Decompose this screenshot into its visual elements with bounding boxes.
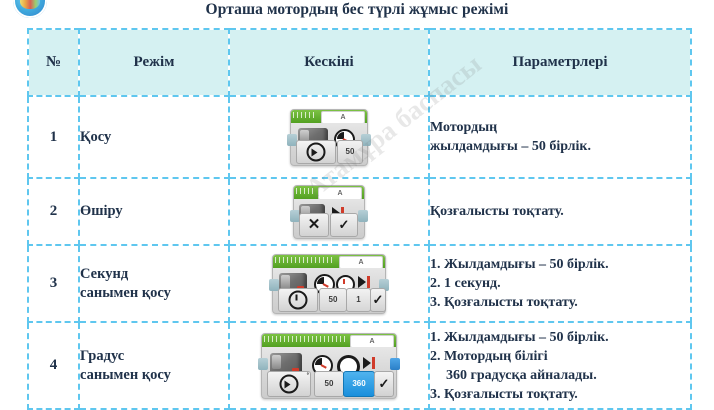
- parameter-line: 2. Мотордың білігі: [430, 347, 690, 366]
- ev3-block-header: A: [262, 334, 396, 347]
- ev3-medium-motor-on-block: A 50: [290, 109, 368, 166]
- row-number: 2: [28, 178, 79, 245]
- ev3-connector-right-icon: [358, 210, 368, 222]
- ev3-ruler-icon: [296, 188, 314, 194]
- ev3-degrees-value[interactable]: 360: [343, 371, 375, 397]
- column-header-image: Кескіні: [229, 29, 429, 96]
- ev3-mode-off-button[interactable]: ✕: [299, 213, 329, 237]
- motor-modes-table: № Режім Кескіні Параметрлері 1 Қосу A: [27, 28, 692, 410]
- ev3-power-value[interactable]: 50: [314, 371, 344, 397]
- parameter-line: 2. 1 секунд.: [430, 274, 690, 293]
- ev3-block-header: A: [273, 255, 385, 268]
- motor-stop-icon: [363, 356, 377, 370]
- on-for-seconds-glyph-icon: [289, 290, 308, 309]
- ev3-ruler-icon: [275, 257, 335, 263]
- ev3-ruler-icon: [264, 336, 346, 342]
- ev3-connector-left-icon: [258, 358, 268, 370]
- ev3-block-body: 50 1 ✓: [273, 268, 385, 313]
- ev3-port-label: A: [339, 256, 383, 268]
- table-row: 4 Градус санымен қосу A: [28, 322, 691, 409]
- stop-bar-shape: [372, 357, 375, 369]
- ev3-medium-motor-on-for-seconds-block: A 50: [272, 254, 386, 314]
- page-title: Орташа мотордың бес түрлі жұмыс режімі: [0, 0, 714, 20]
- ev3-power-value[interactable]: 50: [337, 140, 363, 164]
- row-number: 4: [28, 322, 79, 409]
- row-parameters: Мотордың жылдамдығы – 50 бірлік.: [429, 96, 691, 178]
- row-mode-name: Қосу: [79, 96, 229, 178]
- ev3-seconds-value[interactable]: 1: [346, 288, 371, 312]
- ev3-power-value[interactable]: 50: [319, 288, 347, 312]
- ev3-connector-right-icon: [390, 358, 400, 370]
- motor-stop-icon: [358, 275, 372, 289]
- motor-on-glyph-icon: [307, 142, 326, 161]
- row-parameters: Қозғалысты тоқтату.: [429, 178, 691, 245]
- ev3-medium-motor-on-for-degrees-block: A °: [261, 333, 397, 399]
- table-row: 1 Қосу A 50: [28, 96, 691, 178]
- parameter-line: 3. Қозғалысты тоқтату.: [430, 385, 690, 404]
- column-header-parameters: Параметрлері: [429, 29, 691, 96]
- table-row: 2 Өшіру A ✕: [28, 178, 691, 245]
- parameter-line: 1. Жылдамдығы – 50 бірлік.: [430, 328, 690, 347]
- ev3-port-label: A: [318, 187, 362, 199]
- row-mode-name: Өшіру: [79, 178, 229, 245]
- row-mode-line: Градус: [80, 347, 228, 366]
- ev3-mode-selector-button[interactable]: °: [267, 371, 311, 397]
- ev3-port-label: A: [321, 111, 365, 123]
- parameter-line: Қозғалысты тоқтату.: [430, 202, 690, 221]
- stop-triangle-shape: [358, 276, 366, 288]
- parameter-line: Мотордың: [430, 118, 690, 137]
- degrees-superscript-label: °: [307, 373, 309, 379]
- table-row: 3 Секунд санымен қосу A: [28, 245, 691, 322]
- row-block-image: A ✕ ✓: [229, 178, 429, 245]
- row-mode-name: Градус санымен қосу: [79, 322, 229, 409]
- row-block-image: A 50: [229, 245, 429, 322]
- ev3-block-body: ° 50 360 ✓: [262, 347, 396, 398]
- ev3-block-body: 50: [291, 123, 367, 165]
- row-parameters: 1. Жылдамдығы – 50 бірлік. 2. Мотордың б…: [429, 322, 691, 409]
- row-mode-line: санымен қосу: [80, 284, 228, 303]
- row-block-image: A 50: [229, 96, 429, 178]
- column-header-mode: Режім: [79, 29, 229, 96]
- parameter-line: жылдамдығы – 50 бірлік.: [430, 137, 690, 156]
- row-mode-line: санымен қосу: [80, 366, 228, 385]
- ev3-mode-selector-button[interactable]: [296, 140, 336, 164]
- column-header-number: №: [28, 29, 79, 96]
- table-header-row: № Режім Кескіні Параметрлері: [28, 29, 691, 96]
- stop-triangle-shape: [363, 357, 371, 369]
- row-block-image: A °: [229, 322, 429, 409]
- row-number: 3: [28, 245, 79, 322]
- ev3-ruler-icon: [293, 112, 317, 118]
- ev3-port-label: A: [350, 335, 394, 347]
- row-mode-line: Секунд: [80, 265, 228, 284]
- ev3-block-header: A: [294, 186, 364, 199]
- ev3-brake-check-button[interactable]: ✓: [374, 371, 394, 397]
- ev3-block-header: A: [291, 110, 367, 123]
- row-mode-name: Секунд санымен қосу: [79, 245, 229, 322]
- ev3-medium-motor-off-block: A ✕ ✓: [293, 185, 365, 239]
- row-parameters: 1. Жылдамдығы – 50 бірлік. 2. 1 секунд. …: [429, 245, 691, 322]
- ev3-brake-check-button[interactable]: ✓: [370, 288, 386, 312]
- ev3-brake-check-button[interactable]: ✓: [330, 213, 358, 237]
- parameter-line: 1. Жылдамдығы – 50 бірлік.: [430, 255, 690, 274]
- ev3-block-body: ✕ ✓: [294, 199, 364, 238]
- ev3-mode-selector-button[interactable]: [278, 288, 318, 312]
- parameter-line: 3. Қозғалысты тоқтату.: [430, 293, 690, 312]
- row-number: 1: [28, 96, 79, 178]
- parameter-line: 360 градусқа айналады.: [430, 366, 690, 385]
- stop-bar-shape: [367, 276, 370, 288]
- on-for-degrees-glyph-icon: [280, 374, 299, 393]
